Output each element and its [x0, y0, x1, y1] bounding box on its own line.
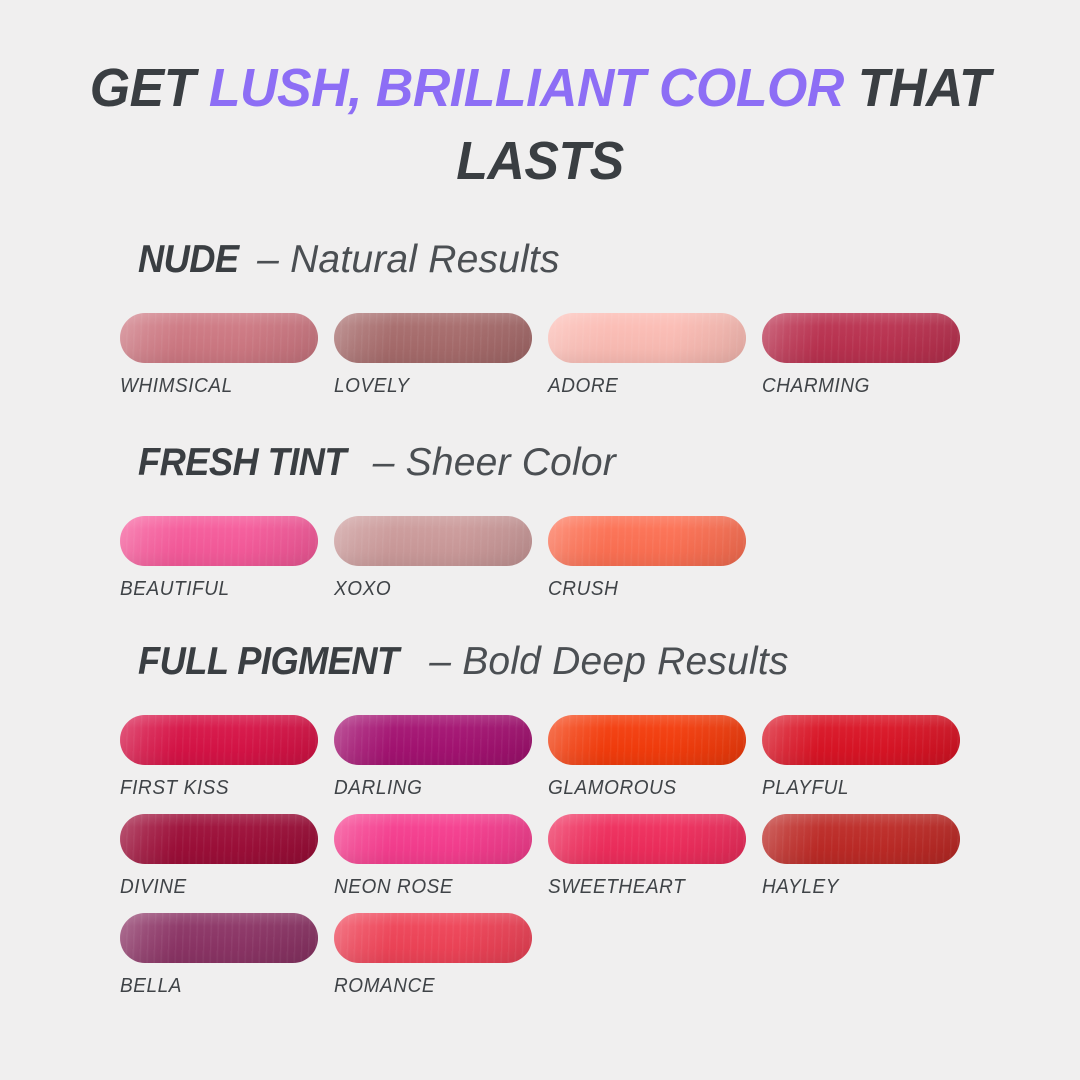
shade-swatch-xoxo[interactable]: XOXO — [334, 516, 532, 601]
shade-swatch-adore[interactable]: ADORE — [548, 313, 746, 398]
swatch-color-chip[interactable] — [548, 814, 746, 864]
section-name-full-pigment: FULL PIGMENT — [138, 642, 399, 681]
section-description-nude: – Natural Results — [246, 238, 560, 281]
swatch-color-chip[interactable] — [334, 516, 532, 566]
swatch-color-chip[interactable] — [548, 313, 746, 363]
shade-swatch-playful[interactable]: PLAYFUL — [762, 715, 960, 800]
swatch-label: HAYLEY — [762, 876, 950, 899]
swatch-label: BEAUTIFUL — [120, 578, 308, 601]
shade-swatch-charming[interactable]: CHARMING — [762, 313, 960, 398]
shade-swatch-bella[interactable]: BELLA — [120, 913, 318, 998]
shade-section-full-pigment: FULL PIGMENT – Bold Deep ResultsFIRST KI… — [0, 642, 1080, 1012]
section-heading-full-pigment: FULL PIGMENT – Bold Deep Results — [138, 642, 1080, 681]
swatch-color-chip[interactable] — [762, 814, 960, 864]
swatch-label: WHIMSICAL — [120, 375, 308, 398]
swatch-label: LOVELY — [334, 375, 522, 398]
shade-swatch-crush[interactable]: CRUSH — [548, 516, 746, 601]
swatch-label: NEON ROSE — [334, 876, 522, 899]
swatch-color-chip[interactable] — [334, 913, 532, 963]
swatch-label: DARLING — [334, 777, 522, 800]
headline-part-2: LUSH, BRILLIANT COLOR — [209, 58, 858, 118]
headline-part-1: GET — [90, 58, 209, 118]
shade-section-nude: NUDE – Natural ResultsWHIMSICALLOVELYADO… — [0, 240, 1080, 412]
shade-swatch-darling[interactable]: DARLING — [334, 715, 532, 800]
swatch-label: FIRST KISS — [120, 777, 308, 800]
swatch-row: BEAUTIFULXOXOCRUSH — [120, 516, 1080, 601]
shade-swatch-whimsical[interactable]: WHIMSICAL — [120, 313, 318, 398]
swatch-row: FIRST KISSDARLINGGLAMOROUSPLAYFUL — [120, 715, 1080, 800]
shade-swatch-lovely[interactable]: LOVELY — [334, 313, 532, 398]
swatch-label: SWEETHEART — [548, 876, 736, 899]
shade-swatch-romance[interactable]: ROMANCE — [334, 913, 532, 998]
swatch-color-chip[interactable] — [120, 715, 318, 765]
swatch-row: BELLAROMANCE — [120, 913, 1080, 998]
shade-swatch-glamorous[interactable]: GLAMOROUS — [548, 715, 746, 800]
shade-swatch-first-kiss[interactable]: FIRST KISS — [120, 715, 318, 800]
swatch-color-chip[interactable] — [548, 715, 746, 765]
swatch-label: CRUSH — [548, 578, 736, 601]
swatch-grid-fresh-tint: BEAUTIFULXOXOCRUSH — [120, 516, 1080, 601]
swatch-color-chip[interactable] — [334, 715, 532, 765]
swatch-label: BELLA — [120, 975, 308, 998]
shade-swatch-neon-rose[interactable]: NEON ROSE — [334, 814, 532, 899]
swatch-label: GLAMOROUS — [548, 777, 736, 800]
swatch-color-chip[interactable] — [762, 313, 960, 363]
swatch-color-chip[interactable] — [334, 313, 532, 363]
shade-section-fresh-tint: FRESH TINT – Sheer ColorBEAUTIFULXOXOCRU… — [0, 443, 1080, 615]
swatch-label: ADORE — [548, 375, 736, 398]
section-heading-nude: NUDE – Natural Results — [138, 240, 1080, 279]
swatch-label: ROMANCE — [334, 975, 522, 998]
shade-swatch-hayley[interactable]: HAYLEY — [762, 814, 960, 899]
swatch-color-chip[interactable] — [120, 913, 318, 963]
section-name-fresh-tint: FRESH TINT — [138, 443, 346, 482]
swatch-color-chip[interactable] — [334, 814, 532, 864]
swatch-color-chip[interactable] — [120, 516, 318, 566]
shade-swatch-sweetheart[interactable]: SWEETHEART — [548, 814, 746, 899]
section-description-full-pigment: – Bold Deep Results — [418, 640, 788, 683]
swatch-row: DIVINENEON ROSESWEETHEARTHAYLEY — [120, 814, 1080, 899]
swatch-row: WHIMSICALLOVELYADORECHARMING — [120, 313, 1080, 398]
swatch-label: XOXO — [334, 578, 522, 601]
shade-swatch-beautiful[interactable]: BEAUTIFUL — [120, 516, 318, 601]
swatch-color-chip[interactable] — [120, 313, 318, 363]
swatch-grid-nude: WHIMSICALLOVELYADORECHARMING — [120, 313, 1080, 398]
swatch-color-chip[interactable] — [762, 715, 960, 765]
section-description-fresh-tint: – Sheer Color — [362, 441, 616, 484]
swatch-label: CHARMING — [762, 375, 950, 398]
section-heading-fresh-tint: FRESH TINT – Sheer Color — [138, 443, 1080, 482]
swatch-label: PLAYFUL — [762, 777, 950, 800]
swatch-label: DIVINE — [120, 876, 308, 899]
section-name-nude: NUDE — [138, 240, 239, 279]
page-headline: GET LUSH, BRILLIANT COLOR THAT LASTS — [22, 52, 1059, 198]
shade-swatch-divine[interactable]: DIVINE — [120, 814, 318, 899]
swatch-grid-full-pigment: FIRST KISSDARLINGGLAMOROUSPLAYFULDIVINEN… — [120, 715, 1080, 998]
swatch-color-chip[interactable] — [120, 814, 318, 864]
swatch-color-chip[interactable] — [548, 516, 746, 566]
